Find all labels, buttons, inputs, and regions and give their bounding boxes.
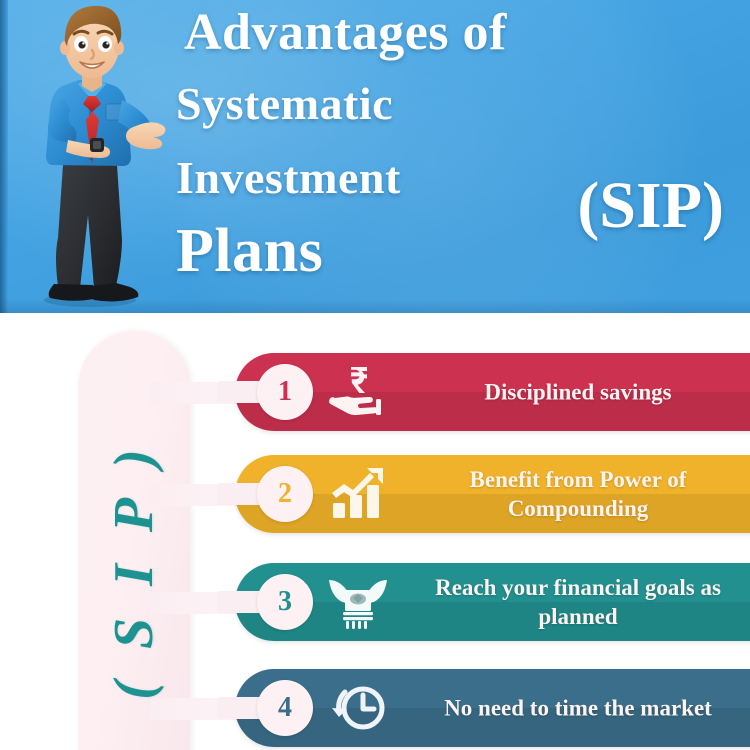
advantage-number-badge-2: 2 bbox=[257, 466, 313, 522]
businessman-illustration bbox=[18, 0, 168, 310]
advantage-row-2[interactable]: 2 Benefit from Power of Compounding bbox=[235, 455, 750, 533]
advantage-label-1: Disciplined savings bbox=[403, 378, 750, 407]
header-left-edge-decoration bbox=[0, 0, 8, 313]
advantage-number-badge-3: 3 bbox=[257, 574, 313, 630]
money-with-wings-icon bbox=[327, 572, 389, 632]
advantage-row-4[interactable]: 4 No need to time the market bbox=[235, 669, 750, 747]
title-line-1: Advantages of bbox=[184, 4, 507, 62]
advantage-label-2: Benefit from Power of Compounding bbox=[403, 465, 750, 523]
hand-holding-rupee-icon bbox=[327, 362, 389, 422]
poster-title-block: Advantages of Systematic Investment Plan… bbox=[168, 0, 638, 313]
title-line-4: Plans bbox=[176, 216, 323, 286]
title-line-3: Investment bbox=[176, 152, 401, 204]
title-line-2: Systematic bbox=[176, 78, 393, 130]
advantage-label-4: No need to time the market bbox=[403, 694, 750, 723]
poster-header: Advantages of Systematic Investment Plan… bbox=[0, 0, 750, 313]
advantage-label-3: Reach your financial goals as planned bbox=[403, 573, 750, 631]
advantages-list-board: ( S I P ) 1 Disciplined savings bbox=[0, 313, 750, 750]
clock-rewind-icon bbox=[327, 678, 389, 738]
sip-infographic-poster: Advantages of Systematic Investment Plan… bbox=[0, 0, 750, 750]
sip-side-panel-label: ( S I P ) bbox=[102, 441, 166, 700]
growth-bar-chart-icon bbox=[327, 464, 389, 524]
advantage-number-badge-1: 1 bbox=[257, 364, 313, 420]
advantage-row-3[interactable]: 3 bbox=[235, 563, 750, 641]
advantage-number-badge-4: 4 bbox=[257, 680, 313, 736]
advantage-row-1[interactable]: 1 Disciplined savings bbox=[235, 353, 750, 431]
header-base-shadow bbox=[0, 299, 750, 313]
sip-acronym-badge: (SIP) bbox=[577, 170, 724, 242]
